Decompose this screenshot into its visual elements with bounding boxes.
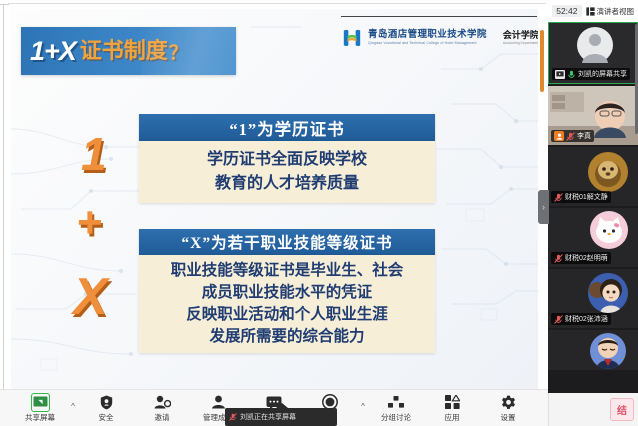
layout-icon — [586, 7, 595, 16]
participant-tile[interactable]: 财税01解文静 — [548, 147, 638, 206]
card-one-line-2: 教育的人才培养质量 — [215, 173, 359, 196]
toolbar-invite-label: 邀请 — [155, 412, 170, 423]
toolbar-record-caret[interactable]: ^ — [358, 390, 368, 426]
title-question-mark: ？ — [169, 38, 188, 65]
participant-name: 李真 — [577, 131, 591, 141]
card-one-body: 学历证书全面反映学校 教育的人才培养质量 — [139, 141, 435, 203]
department-name-cn: 会计学院 — [503, 31, 538, 40]
photo-avatar — [588, 152, 628, 192]
gear-icon — [501, 394, 516, 411]
participant-tile[interactable]: 财税02张沛涵 — [548, 269, 638, 328]
college-name-en: Qingdao Vocational and Technical College… — [368, 41, 487, 45]
participant-tile-list: 刘凯的屏幕共享 — [548, 22, 638, 426]
chevron-up-icon-2: ^ — [361, 402, 365, 411]
share-scrollbar[interactable] — [540, 30, 544, 92]
toolbar-invite[interactable]: 邀请 — [134, 390, 190, 426]
content-card-one: “1”为学历证书 学历证书全面反映学校 教育的人才培养质量 — [139, 114, 435, 203]
host-icon — [554, 131, 564, 141]
toolbar-apps-label: 应用 — [445, 412, 460, 423]
participant-tile[interactable]: 李真 — [548, 86, 638, 145]
glyph-x: X — [73, 271, 108, 323]
participant-name: 刘凯的屏幕共享 — [578, 69, 627, 79]
shared-screen-region: 青岛酒店管理职业技术学院 Qingdao Vocational and Tech… — [0, 0, 548, 426]
toolbar-breakout-rooms[interactable]: 分组讨论 — [368, 390, 424, 426]
participant-sidebar: 52:42 演讲者视图 › — [548, 0, 638, 426]
zoom-meeting-window: 青岛酒店管理职业技术学院 Qingdao Vocational and Tech… — [0, 0, 638, 426]
college-name-cn: 青岛酒店管理职业技术学院 — [368, 31, 487, 41]
breakout-rooms-icon — [388, 394, 404, 411]
slide-title-banner: 1+X 证书制度 ？ — [21, 27, 236, 75]
toolbar-settings[interactable]: 设置 — [480, 390, 536, 426]
department-block: 会计学院 Accounting Department — [503, 31, 538, 45]
sidebar-collapse-handle[interactable]: › — [538, 190, 549, 224]
invite-person-icon — [154, 394, 171, 411]
department-name-en: Accounting Department — [503, 41, 538, 45]
participant-name: 财税01解文静 — [565, 192, 608, 202]
manage-participants-icon — [211, 394, 226, 411]
window-frame-line — [3, 4, 4, 422]
participant-tile[interactable]: 刘凯的屏幕共享 — [548, 22, 638, 84]
title-main: 证书制度 — [80, 40, 168, 62]
mic-muted-icon — [229, 413, 237, 421]
speaker-view-button[interactable]: 演讲者视图 — [586, 6, 635, 17]
card-x-line-2: 成员职业技能水平的凭证 — [202, 282, 373, 304]
toolbar-share-caret[interactable]: ^ — [68, 390, 78, 426]
apps-grid-icon — [445, 394, 460, 411]
college-logo-icon — [341, 28, 363, 48]
sidebar-header: 52:42 演讲者视图 — [548, 0, 638, 22]
toolbar-security-label: 安全 — [99, 412, 114, 423]
card-x-heading: “X”为若干职业技能等级证书 — [139, 229, 435, 255]
screen-share-icon — [555, 70, 565, 79]
card-one-heading: “1”为学历证书 — [139, 114, 435, 141]
cat-avatar — [590, 211, 628, 249]
chevron-right-icon: › — [542, 202, 545, 212]
card-x-line-1: 职业技能等级证书是毕业生、社会 — [171, 260, 404, 282]
toolbar-share-screen[interactable]: 共享屏幕 — [12, 390, 68, 426]
shield-icon — [100, 394, 113, 411]
window-frame-tick-top — [0, 4, 9, 5]
mic-muted-icon — [554, 315, 563, 324]
chevron-up-icon: ^ — [71, 402, 75, 411]
participant-name-badge: 刘凯的屏幕共享 — [552, 68, 630, 80]
presentation-slide: 青岛酒店管理职业技术学院 Qingdao Vocational and Tech… — [11, 9, 538, 389]
participant-name: 财税02赵明萌 — [565, 253, 608, 263]
toolbar-breakout-rooms-label: 分组讨论 — [381, 412, 411, 423]
glyph-one: 1 — [81, 131, 107, 177]
card-x-line-4: 发展所需要的综合能力 — [209, 326, 364, 348]
mic-muted-icon — [554, 193, 563, 202]
mic-muted-icon — [567, 70, 576, 79]
participant-name-badge: 李真 — [551, 130, 594, 142]
default-person-avatar — [577, 27, 613, 63]
header-divider — [341, 16, 537, 17]
content-card-x: “X”为若干职业技能等级证书 职业技能等级证书是毕业生、社会 成员职业技能水平的… — [139, 229, 435, 353]
participant-name-badge: 财税01解文静 — [551, 191, 611, 203]
participant-tile[interactable] — [548, 330, 638, 370]
toolbar-share-screen-label: 共享屏幕 — [25, 412, 55, 423]
mic-muted-icon — [554, 254, 563, 263]
participant-name-badge: 财税02张沛涵 — [551, 313, 611, 325]
title-prefix: 1+X — [30, 38, 76, 65]
college-name-block: 青岛酒店管理职业技术学院 Qingdao Vocational and Tech… — [368, 31, 487, 45]
window-top-rule — [8, 3, 546, 4]
cartoon-avatar — [590, 333, 626, 369]
participant-name: 财税02张沛涵 — [565, 314, 608, 324]
child-avatar — [588, 273, 628, 313]
toolbar-security[interactable]: 安全 — [78, 390, 134, 426]
glyph-plus: + — [77, 201, 103, 245]
card-one-line-1: 学历证书全面反映学校 — [207, 149, 367, 172]
toolbar-apps[interactable]: 应用 — [424, 390, 480, 426]
card-x-line-3: 反映职业活动和个人职业生涯 — [186, 304, 388, 326]
speaker-view-label: 演讲者视图 — [597, 6, 635, 17]
sharing-notice-tooltip: 刘凯正在共享屏幕 — [225, 408, 337, 426]
participant-name-badge: 财税02赵明萌 — [551, 252, 611, 264]
participant-tile[interactable]: 财税02赵明萌 — [548, 208, 638, 267]
share-screen-icon — [32, 394, 49, 411]
end-meeting-button[interactable]: 结 — [610, 398, 634, 421]
meeting-timer: 52:42 — [552, 5, 581, 17]
card-x-body: 职业技能等级证书是毕业生、社会 成员职业技能水平的凭证 反映职业活动和个人职业生… — [139, 255, 435, 353]
mic-muted-icon — [566, 132, 575, 141]
college-logo-header: 青岛酒店管理职业技术学院 Qingdao Vocational and Tech… — [341, 23, 536, 53]
sharing-notice-text: 刘凯正在共享屏幕 — [240, 412, 296, 422]
toolbar-settings-label: 设置 — [501, 412, 516, 423]
